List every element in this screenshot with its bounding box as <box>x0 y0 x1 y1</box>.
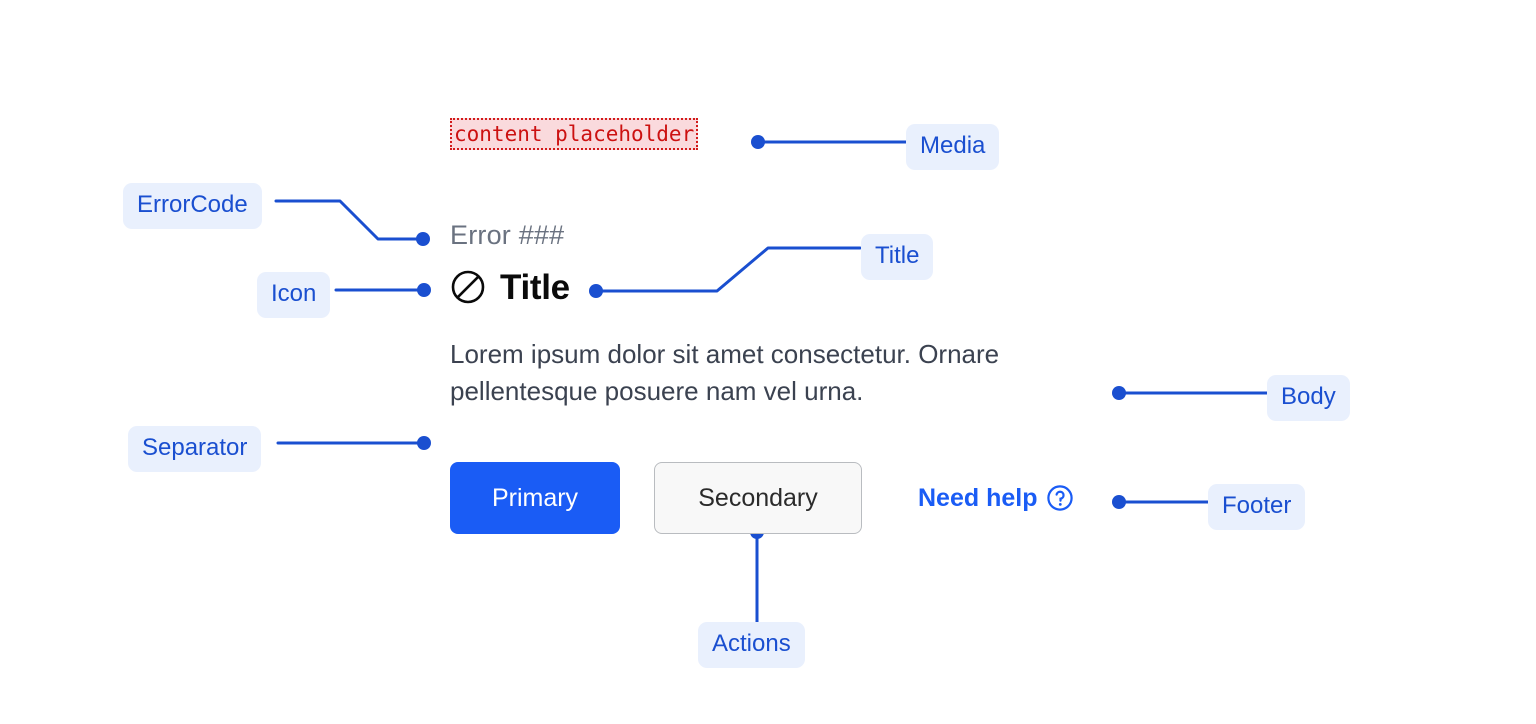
callout-badge-errorcode[interactable]: ErrorCode <box>123 183 262 229</box>
callout-badge-separator[interactable]: Separator <box>128 426 261 472</box>
need-help-label: Need help <box>918 486 1037 511</box>
secondary-button[interactable]: Secondary <box>654 462 862 534</box>
card-actions: Primary Secondary Need help <box>450 462 1090 534</box>
media-content-placeholder[interactable]: content placeholder <box>450 118 698 150</box>
callout-badge-actions[interactable]: Actions <box>698 622 805 668</box>
title-row: Title <box>450 269 1090 305</box>
callout-badge-icon[interactable]: Icon <box>257 272 330 318</box>
question-circle-icon <box>1046 484 1074 512</box>
prohibition-icon <box>450 269 486 305</box>
callout-badge-footer[interactable]: Footer <box>1208 484 1305 530</box>
error-body-text: Lorem ipsum dolor sit amet consectetur. … <box>450 336 1100 410</box>
primary-button[interactable]: Primary <box>450 462 620 534</box>
need-help-link[interactable]: Need help <box>918 484 1074 512</box>
callout-badge-body[interactable]: Body <box>1267 375 1350 421</box>
error-title: Title <box>500 270 570 305</box>
annotated-error-page: Media ErrorCode Title Icon Body Separato… <box>0 0 1536 724</box>
error-code-text: Error ### <box>450 222 1090 249</box>
error-card: content placeholder Error ### Title Lore… <box>450 118 1090 534</box>
connector-errorcode <box>276 201 420 239</box>
